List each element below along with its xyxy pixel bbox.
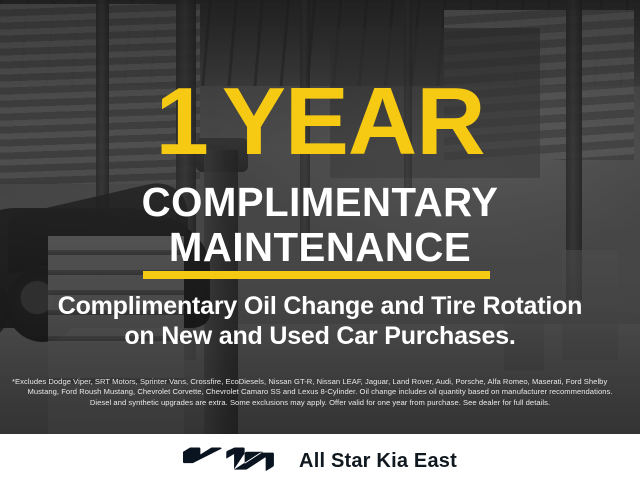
headline-year-row: 1YEAR bbox=[0, 74, 640, 170]
dealer-name: All Star Kia East bbox=[299, 450, 457, 473]
disclaimer-line-1: *Excludes Dodge Viper, SRT Motors, Sprin… bbox=[12, 377, 628, 387]
headline-complimentary: COMPLIMENTARY bbox=[6, 182, 633, 223]
promo-banner: 1YEAR COMPLIMENTARY MAINTENANCE Complime… bbox=[0, 0, 640, 488]
kia-logo bbox=[183, 447, 275, 476]
headline-year-number: 1 bbox=[155, 68, 207, 175]
disclaimer-line-3: Diesel and synthetic upgrades are extra.… bbox=[12, 398, 628, 408]
banner-footer: All Star Kia East bbox=[0, 434, 640, 488]
banner-content: 1YEAR COMPLIMENTARY MAINTENANCE Complime… bbox=[0, 0, 640, 488]
yellow-divider-bar bbox=[143, 271, 490, 279]
headline-maintenance: MAINTENANCE bbox=[6, 227, 633, 268]
disclaimer-line-2: Mustang, Ford Roush Mustang, Chevrolet C… bbox=[12, 387, 628, 397]
offer-text-line-2: on New and Used Car Purchases. bbox=[0, 322, 640, 350]
disclaimer-text: *Excludes Dodge Viper, SRT Motors, Sprin… bbox=[12, 377, 628, 408]
headline-year-word: YEAR bbox=[222, 68, 485, 175]
offer-text-line-1: Complimentary Oil Change and Tire Rotati… bbox=[0, 292, 640, 320]
